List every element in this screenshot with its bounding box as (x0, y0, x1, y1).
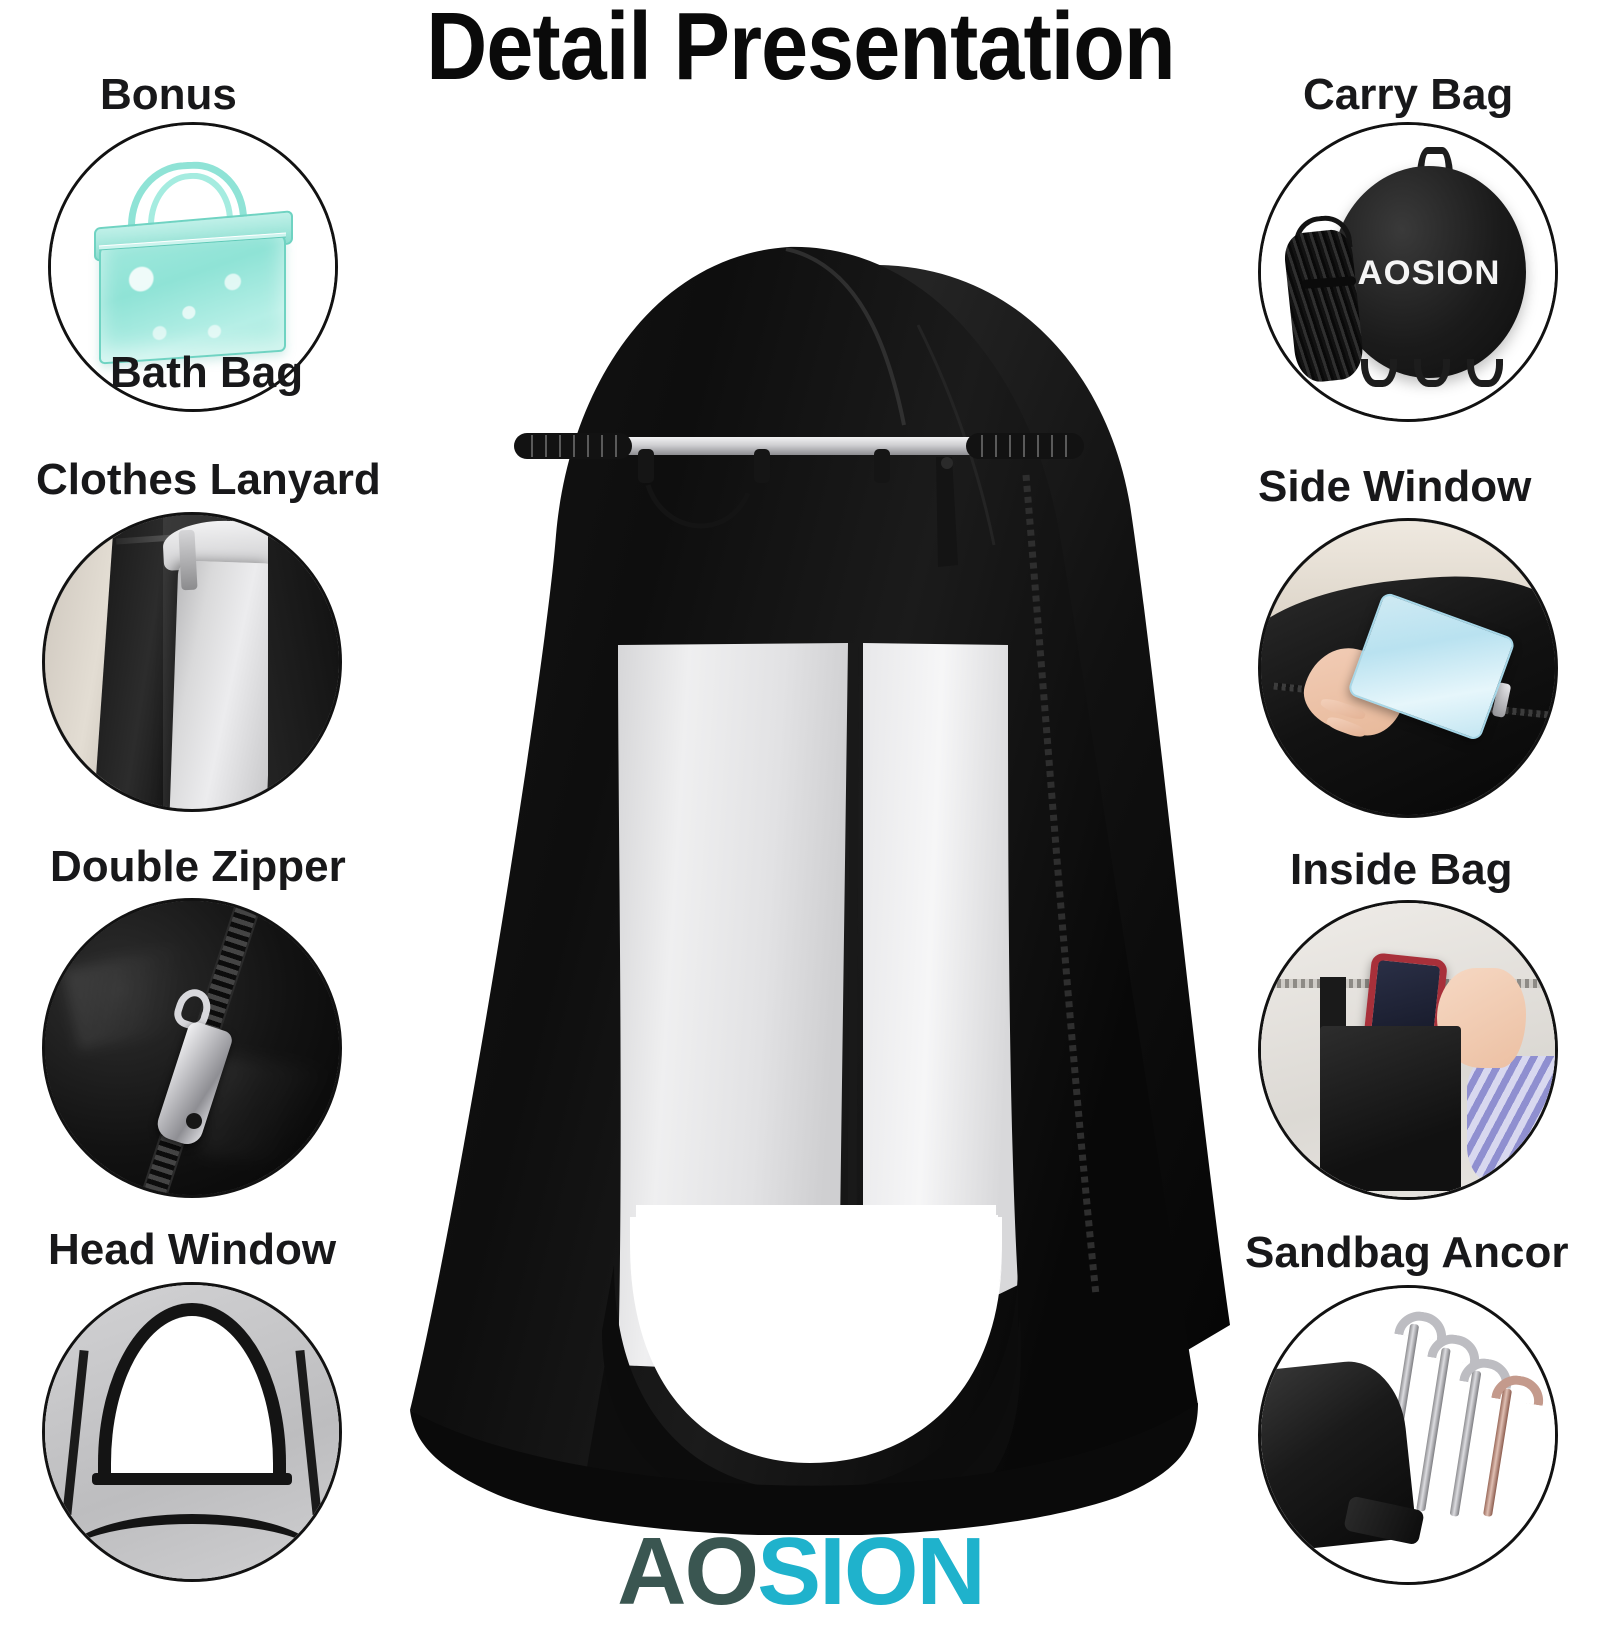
feature-image-carry-bag: AOSION (1258, 122, 1558, 422)
tent-stake-2 (1416, 1347, 1451, 1511)
double-zipper-illustration (45, 901, 339, 1195)
brand-logo-part-sion: SION (757, 1518, 984, 1625)
tent-wall-dark-right (268, 515, 339, 809)
feature-label-carry-bag: Carry Bag (1303, 70, 1513, 120)
feature-sublabel-bath-bag: Bath Bag (110, 348, 303, 398)
tent-stake-3 (1449, 1371, 1481, 1518)
carry-bag-logo: AOSION (1330, 254, 1528, 293)
lanyard-clip-icon (179, 529, 198, 590)
bath-bag-body (99, 232, 286, 364)
carry-bag-strap-a (1361, 359, 1397, 387)
carry-bag-strap-b (1414, 359, 1450, 387)
brand-logo-part-ao: AO (617, 1518, 757, 1625)
hanging-towel (170, 560, 276, 812)
feature-label-inside-bag: Inside Bag (1290, 845, 1513, 895)
feature-label-side-window: Side Window (1258, 462, 1531, 512)
page-title: Detail Presentation (96, 0, 1505, 102)
clothes-lanyard-illustration (45, 515, 339, 809)
inside-bag-illustration (1261, 903, 1555, 1197)
feature-label-head-window: Head Window (48, 1225, 336, 1275)
side-window-illustration (1261, 521, 1555, 815)
feature-image-side-window (1258, 518, 1558, 818)
brand-logo: AOSION (0, 1517, 1601, 1627)
head-window-sill (92, 1473, 292, 1485)
tent-stake-4 (1483, 1388, 1512, 1517)
feature-image-inside-bag (1258, 900, 1558, 1200)
feature-label-bonus: Bonus (100, 70, 237, 120)
feature-label-clothes-lanyard: Clothes Lanyard (36, 455, 381, 505)
feature-image-clothes-lanyard (42, 512, 342, 812)
striped-sleeve (1467, 1056, 1558, 1185)
inner-pocket (1320, 1026, 1461, 1191)
carry-bag-strap-c (1467, 359, 1503, 387)
carry-bag-illustration: AOSION (1261, 125, 1555, 419)
feature-label-double-zipper: Double Zipper (50, 842, 346, 892)
pop-up-privacy-tent-graphic (318, 205, 1278, 1535)
detail-presentation-page: Detail Presentation Bonus Bath Bag Cloth… (0, 0, 1601, 1601)
main-product-image (318, 205, 1278, 1535)
feature-label-sandbag-ancor: Sandbag Ancor (1245, 1228, 1569, 1278)
feature-image-double-zipper (42, 898, 342, 1198)
